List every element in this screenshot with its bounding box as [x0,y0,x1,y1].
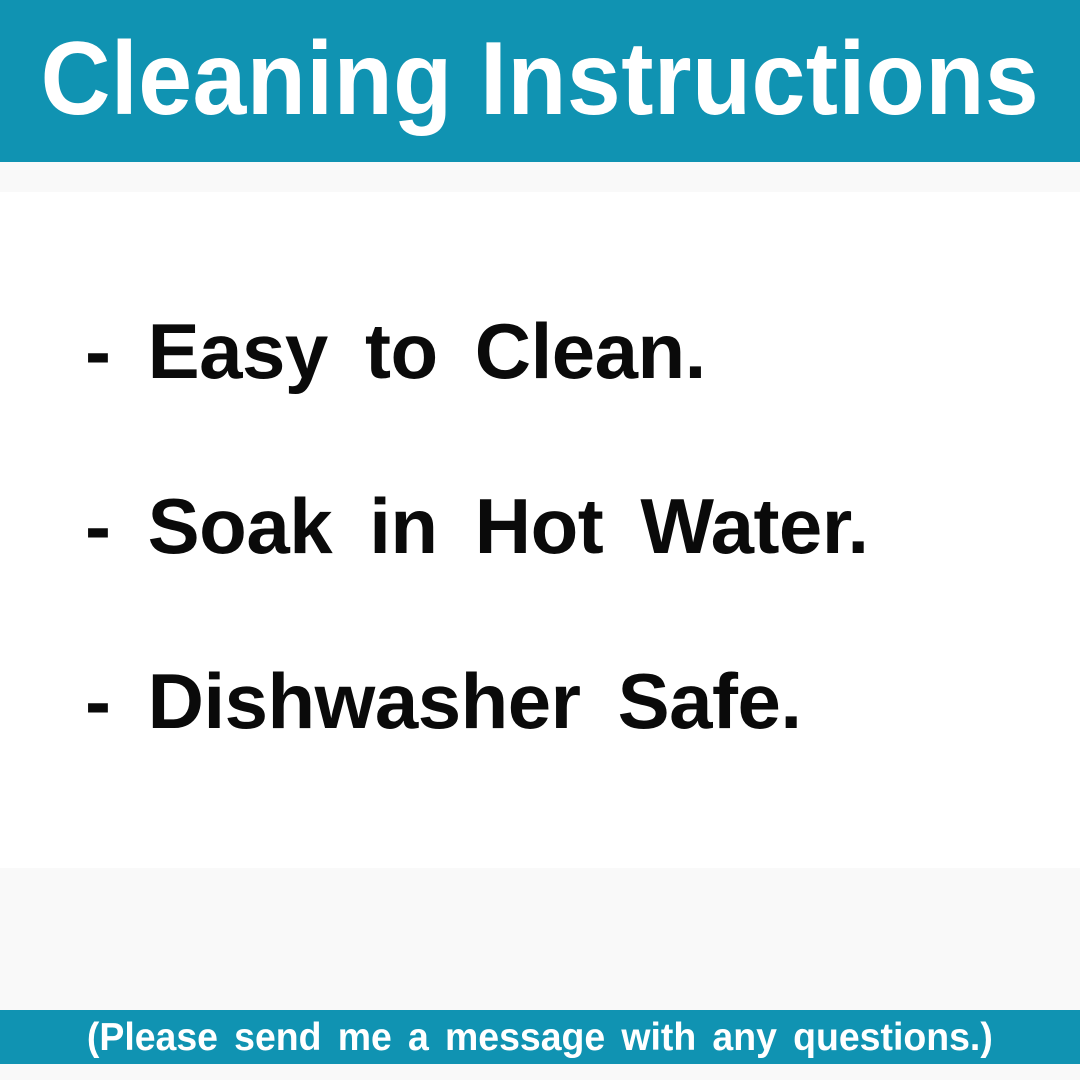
header-banner: Cleaning Instructions [0,0,1080,162]
divider-below-header [0,162,1080,192]
cleaning-instructions-card: Cleaning Instructions - Easy to Clean. -… [0,0,1080,1080]
divider-above-footer [0,868,1080,1010]
list-item: - Easy to Clean. [85,264,1045,439]
footer-note-text: (Please send me a message with any quest… [87,1018,993,1057]
list-item: - Dishwasher Safe. [85,614,1045,789]
instructions-list: - Easy to Clean. - Soak in Hot Water. - … [85,264,1045,789]
instructions-panel: - Easy to Clean. - Soak in Hot Water. - … [0,192,1080,868]
list-item: - Soak in Hot Water. [85,439,1045,614]
bottom-strip [0,1064,1080,1080]
footer-banner: (Please send me a message with any quest… [0,1010,1080,1064]
page-title: Cleaning Instructions [41,27,1040,131]
